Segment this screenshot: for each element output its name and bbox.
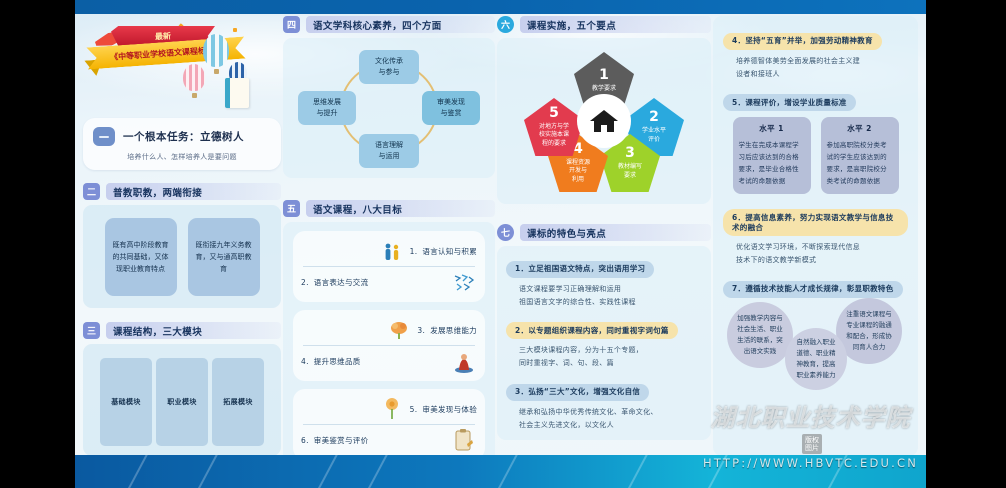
section-one-title: 一个根本任务：立德树人 <box>123 129 244 144</box>
hero-banner: 最新 《中等职业学校语文课程标准》 <box>83 16 281 112</box>
goal-item: 6. 审美鉴赏与评价 <box>301 425 477 455</box>
highlight-item: 7．遵循技术技能人才成长规律，彰显职教特色 加强教学内容与社会生活、职业生活的联… <box>723 276 908 390</box>
section-four-number: 四 <box>283 16 300 33</box>
pentagon-number: 5 <box>549 106 559 120</box>
two-box: 既衔接九年义务教育，又与通高职教育 <box>188 218 260 296</box>
goal-item: 1. 语言认知与积累 <box>301 236 477 266</box>
goal-index: 5. <box>410 405 418 414</box>
goal-label: 语言表达与交流 <box>314 277 369 288</box>
pentagon-5: 5 对地方与学校实施本课程的要求 <box>524 98 584 156</box>
section-two-title-wrap: 普教职教，两端衔接 <box>106 183 281 200</box>
section-two-title: 普教职教，两端衔接 <box>113 185 202 199</box>
ribbon-red-label: 最新 <box>155 30 172 42</box>
highlight-item: 2．以专题组织课程内容，同时重视字词句篇 三大模块课程内容，分为十五个专题，同时… <box>506 318 702 371</box>
section-three-number: 三 <box>83 322 100 339</box>
level-box-1: 水平 1 学生在完成本课程学习后应该达到的合格要求，是毕业合格性考试的命题依据 <box>733 117 811 194</box>
pentagon-hub <box>577 94 631 148</box>
literacy-box-culture: 文化传承与参与 <box>359 50 419 84</box>
section-one-header: 一个根本任务：立德树人 <box>93 127 271 146</box>
section-five-panel: 1. 语言认知与积累 2. 语言表达与交流 <box>283 222 495 488</box>
section-seven-title: 课标的特色与亮点 <box>527 226 606 240</box>
flower-icon <box>379 397 405 421</box>
highlight-body: 培养德智体美劳全面发展的社会主义建设者和接班人 <box>723 50 908 81</box>
highlight-item: 6．提高信息素养，努力实现语文教学与信息技术的融合 优化语文学习环境，不断探索现… <box>723 209 908 267</box>
section-five-number: 五 <box>283 200 300 217</box>
column-1: 最新 《中等职业学校语文课程标准》 一个根本任务：立德树人 培养什么人、怎样培养… <box>83 16 281 466</box>
highlight-chip: 3．弘扬“三大”文化，增强文化自信 <box>506 384 649 401</box>
book-icon <box>225 78 249 108</box>
section-four-panel: 文化传承与参与 审美发现与鉴赏 语言理解与运用 思维发展与提升 <box>283 38 495 178</box>
pentagon-number: 2 <box>649 110 659 124</box>
pentagon-label: 对地方与学校实施本课程的要求 <box>535 123 573 147</box>
section-four-title: 语文学科核心素养，四个方面 <box>313 18 442 32</box>
highlight-item: 4．坚持“五育”并举，加强劳动精神教育 培养德智体美劳全面发展的社会主义建设者和… <box>723 28 908 81</box>
clipboard-icon <box>451 428 477 452</box>
module-box-group: 基础模块 职业模块 拓展模块 <box>92 352 272 451</box>
section-three-panel: 基础模块 职业模块 拓展模块 <box>83 344 281 456</box>
goal-index: 3. <box>417 326 425 335</box>
highlight-item: 1．立足祖国语文特点，突出语用学习 语文课程要学习正确理解和运用祖国语言文字的综… <box>506 256 702 309</box>
section-seven-number: 七 <box>497 224 514 241</box>
section-seven-panel: 1．立足祖国语文特点，突出语用学习 语文课程要学习正确理解和运用祖国语言文字的综… <box>497 246 711 440</box>
goal-item: 5. 审美发现与体验 <box>301 394 477 424</box>
people-icon <box>379 239 405 263</box>
highlight-chip: 7．遵循技术技能人才成长规律，彰显职教特色 <box>723 281 903 298</box>
implementation-pentagon-wheel: 1 教学要求 2 学业水平评价 3 教材编写要求 4 课程资源开发与利用 <box>506 46 702 196</box>
literacy-box-language: 语言理解与运用 <box>359 134 419 168</box>
highlight-item: 3．弘扬“三大”文化，增强文化自信 继承和弘扬中华优秀传统文化、革命文化、社会主… <box>506 379 702 432</box>
goal-label: 语言认知与积累 <box>422 246 477 257</box>
spark-icon <box>233 28 237 32</box>
poster-slide: 最新 《中等职业学校语文课程标准》 一个根本任务：立德树人 培养什么人、怎样培养… <box>75 0 926 488</box>
pentagon-number: 1 <box>599 68 609 82</box>
goal-item: 4. 提升思维品质 <box>301 346 477 376</box>
highlight-chip: 5．课程评价，增设学业质量标准 <box>723 94 856 111</box>
level-text: 学生在完成本课程学习后应该达到的合格要求，是毕业合格性考试的命题依据 <box>739 139 805 187</box>
goal-card: 3. 发展思维能力 4. 提升思维品质 <box>293 310 485 381</box>
column-3: 六 课程实施，五个要点 1 教学要求 2 学业水平评价 3 <box>497 16 711 450</box>
screenshot-root: 最新 《中等职业学校语文课程标准》 一个根本任务：立德树人 培养什么人、怎样培养… <box>0 0 1006 488</box>
level-heading: 水平 1 <box>739 123 805 134</box>
two-box: 既有高中阶段教育的共同基础，又体现职业教育特点 <box>105 218 177 296</box>
goal-item: 2. 语言表达与交流 <box>301 267 477 297</box>
goal-card: 1. 语言认知与积累 2. 语言表达与交流 <box>293 231 485 302</box>
section-four-header: 四 语文学科核心素养，四个方面 <box>283 16 495 33</box>
section-five-header: 五 语文课程，八大目标 <box>283 200 495 217</box>
core-literacy-ring: 文化传承与参与 审美发现与鉴赏 语言理解与运用 思维发展与提升 <box>292 46 486 170</box>
module-box: 职业模块 <box>156 358 208 446</box>
module-box: 基础模块 <box>100 358 152 446</box>
hot-air-balloon-icon <box>203 34 229 67</box>
highlight-chip: 1．立足祖国语文特点，突出语用学习 <box>506 261 654 278</box>
bottom-accent-bar <box>75 455 926 488</box>
highlight-body: 继承和弘扬中华优秀传统文化、革命文化、社会主义先进文化，以文化人 <box>506 401 702 432</box>
level-heading: 水平 2 <box>827 123 893 134</box>
goal-label: 提升思维品质 <box>314 356 361 367</box>
circle-item: 加强教学内容与社会生活、职业生活的联系，突出语文实践 <box>727 302 793 368</box>
section-six-panel: 1 教学要求 2 学业水平评价 3 教材编写要求 4 课程资源开发与利用 <box>497 38 711 204</box>
section-three-header: 三 课程结构，三大模块 <box>83 322 281 339</box>
section-six-title: 课程实施，五个要点 <box>527 18 616 32</box>
section-two-header: 二 普教职教，两端衔接 <box>83 183 281 200</box>
section-four-title-wrap: 语文学科核心素养，四个方面 <box>306 16 495 33</box>
section-two-panel: 既有高中阶段教育的共同基础，又体现职业教育特点 既衔接九年义务教育，又与通高职教… <box>83 205 281 308</box>
highlight-chip: 4．坚持“五育”并举，加强劳动精神教育 <box>723 33 882 50</box>
module-box: 拓展模块 <box>212 358 264 446</box>
goal-card: 5. 审美发现与体验 6. 审美鉴赏与评价 <box>293 389 485 460</box>
brain-icon <box>386 318 412 342</box>
column-2: 四 语文学科核心素养，四个方面 文化传承与参与 审美发现与鉴赏 语言理解与运用 … <box>283 16 495 488</box>
level-box-2: 水平 2 参加高职院校分类考试的学生应该达到的要求，是高职院校分类考试的命题依据 <box>821 117 899 194</box>
literacy-box-aesthetic: 审美发现与鉴赏 <box>422 91 480 125</box>
pentagon-label: 教材编写要求 <box>614 163 646 179</box>
section-six-number: 六 <box>497 16 514 33</box>
goal-index: 6. <box>301 436 309 445</box>
two-box-group: 既有高中阶段教育的共同基础，又体现职业教育特点 既衔接九年义务教育，又与通高职教… <box>92 213 272 300</box>
section-seven-header: 七 课标的特色与亮点 <box>497 224 711 241</box>
goal-label: 发展思维能力 <box>430 325 477 336</box>
section-three-title: 课程结构，三大模块 <box>113 324 202 338</box>
circle-group: 加强教学内容与社会生活、职业生活的联系，突出语文实践 注重语文课程与专业课程的融… <box>723 298 908 390</box>
goal-label: 审美发现与体验 <box>422 404 477 415</box>
top-accent-bar <box>75 0 926 14</box>
section-two-number: 二 <box>83 183 100 200</box>
column-four-panel: 4．坚持“五育”并举，加强劳动精神教育 培养德智体美劳全面发展的社会主义建设者和… <box>713 16 918 456</box>
literacy-box-thinking: 思维发展与提升 <box>298 91 356 125</box>
section-one-card: 一个根本任务：立德树人 培养什么人、怎样培养人是要问题 <box>83 118 281 170</box>
goal-label: 审美鉴赏与评价 <box>314 435 369 446</box>
highlight-chip: 2．以专题组织课程内容，同时重视字词句篇 <box>506 322 678 339</box>
level-text: 参加高职院校分类考试的学生应该达到的要求，是高职院校分类考试的命题依据 <box>827 139 893 187</box>
pentagon-number: 3 <box>625 146 635 160</box>
highlight-chip: 6．提高信息素养，努力实现语文教学与信息技术的融合 <box>723 209 908 236</box>
pentagon-label: 教学要求 <box>588 85 620 93</box>
hot-air-balloon-icon <box>183 64 205 91</box>
home-icon <box>590 110 618 132</box>
column-4: 4．坚持“五育”并举，加强劳动精神教育 培养德智体美劳全面发展的社会主义建设者和… <box>713 16 918 456</box>
goal-index: 1. <box>410 247 418 256</box>
section-six-header: 六 课程实施，五个要点 <box>497 16 711 33</box>
section-three-title-wrap: 课程结构，三大模块 <box>106 322 281 339</box>
highlight-body: 语文课程要学习正确理解和运用祖国语言文字的综合性、实践性课程 <box>506 278 702 309</box>
circle-item: 自然融入职业道德、职业精神教育，提高职业素养能力 <box>785 328 847 390</box>
goal-item: 3. 发展思维能力 <box>301 315 477 345</box>
section-five-title-wrap: 语文课程，八大目标 <box>306 200 495 217</box>
level-box-group: 水平 1 学生在完成本课程学习后应该达到的合格要求，是毕业合格性考试的命题依据 … <box>723 111 908 200</box>
goal-index: 2. <box>301 278 309 287</box>
thinker-icon <box>451 349 477 373</box>
highlight-item: 5．课程评价，增设学业质量标准 水平 1 学生在完成本课程学习后应该达到的合格要… <box>723 90 908 201</box>
section-five-title: 语文课程，八大目标 <box>313 202 402 216</box>
section-seven-title-wrap: 课标的特色与亮点 <box>520 224 711 241</box>
pentagon-label: 学业水平评价 <box>638 127 670 143</box>
pentagon-label: 课程资源开发与利用 <box>562 159 594 183</box>
section-one-subtitle: 培养什么人、怎样培养人是要问题 <box>93 152 271 162</box>
highlight-body: 三大模块课程内容，分为十五个专题，同时重视字、词、句、段、篇 <box>506 339 702 370</box>
one-badge-icon <box>93 127 115 146</box>
section-six-title-wrap: 课程实施，五个要点 <box>520 16 711 33</box>
highlight-body: 优化语文学习环境，不断探索现代信息技术下的语文教学新模式 <box>723 236 908 267</box>
goal-index: 4. <box>301 357 309 366</box>
speech-icon <box>451 270 477 294</box>
